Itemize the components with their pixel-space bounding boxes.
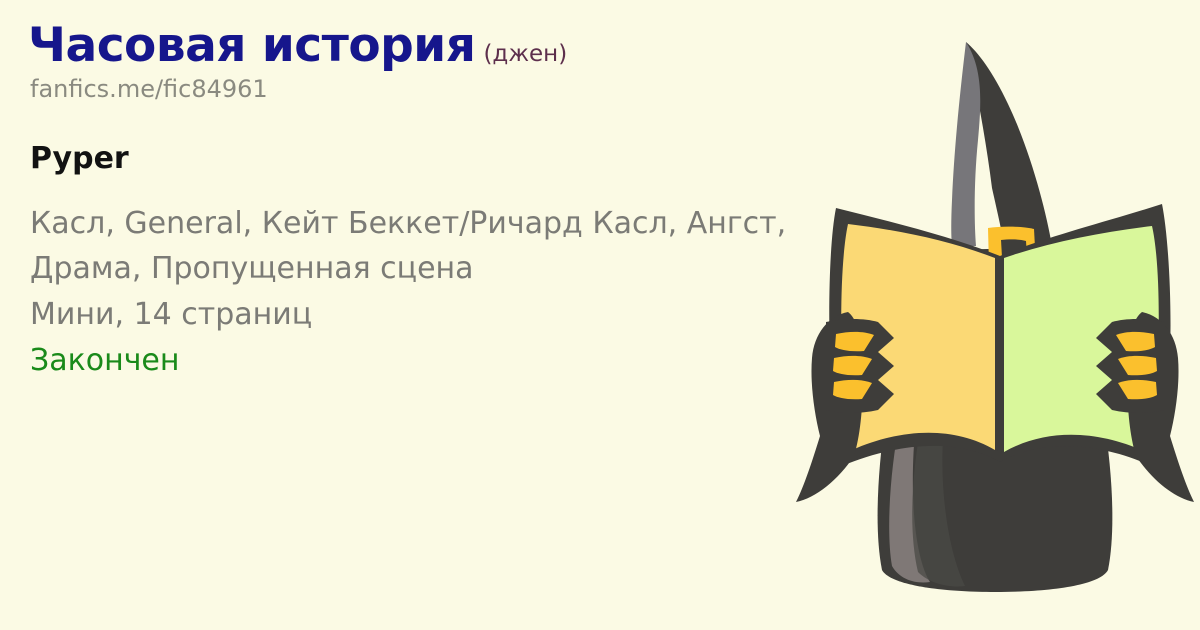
author-name: Pyper xyxy=(30,142,818,175)
title-row: Часовая история(джен) xyxy=(28,22,818,69)
metadata-line-size: Мини, 14 страниц xyxy=(30,292,790,338)
book-spine xyxy=(995,258,1004,452)
genre-label: (джен) xyxy=(483,41,567,67)
metadata-block: Касл, General, Кейт Беккет/Ричард Касл, … xyxy=(30,201,790,383)
hooded-figure-reading-book-icon xyxy=(790,0,1200,630)
metadata-line-tags: Касл, General, Кейт Беккет/Ричард Касл, … xyxy=(30,201,790,292)
fanfic-preview-card: Часовая история(джен) fanfics.me/fic8496… xyxy=(0,0,1200,630)
text-column: Часовая история(джен) fanfics.me/fic8496… xyxy=(28,22,818,383)
source-url: fanfics.me/fic84961 xyxy=(30,75,818,104)
page-title: Часовая история xyxy=(28,18,475,73)
status-badge: Закончен xyxy=(30,338,790,384)
illustration xyxy=(790,0,1200,630)
hat-highlight xyxy=(951,42,980,246)
right-hand xyxy=(1096,312,1194,502)
